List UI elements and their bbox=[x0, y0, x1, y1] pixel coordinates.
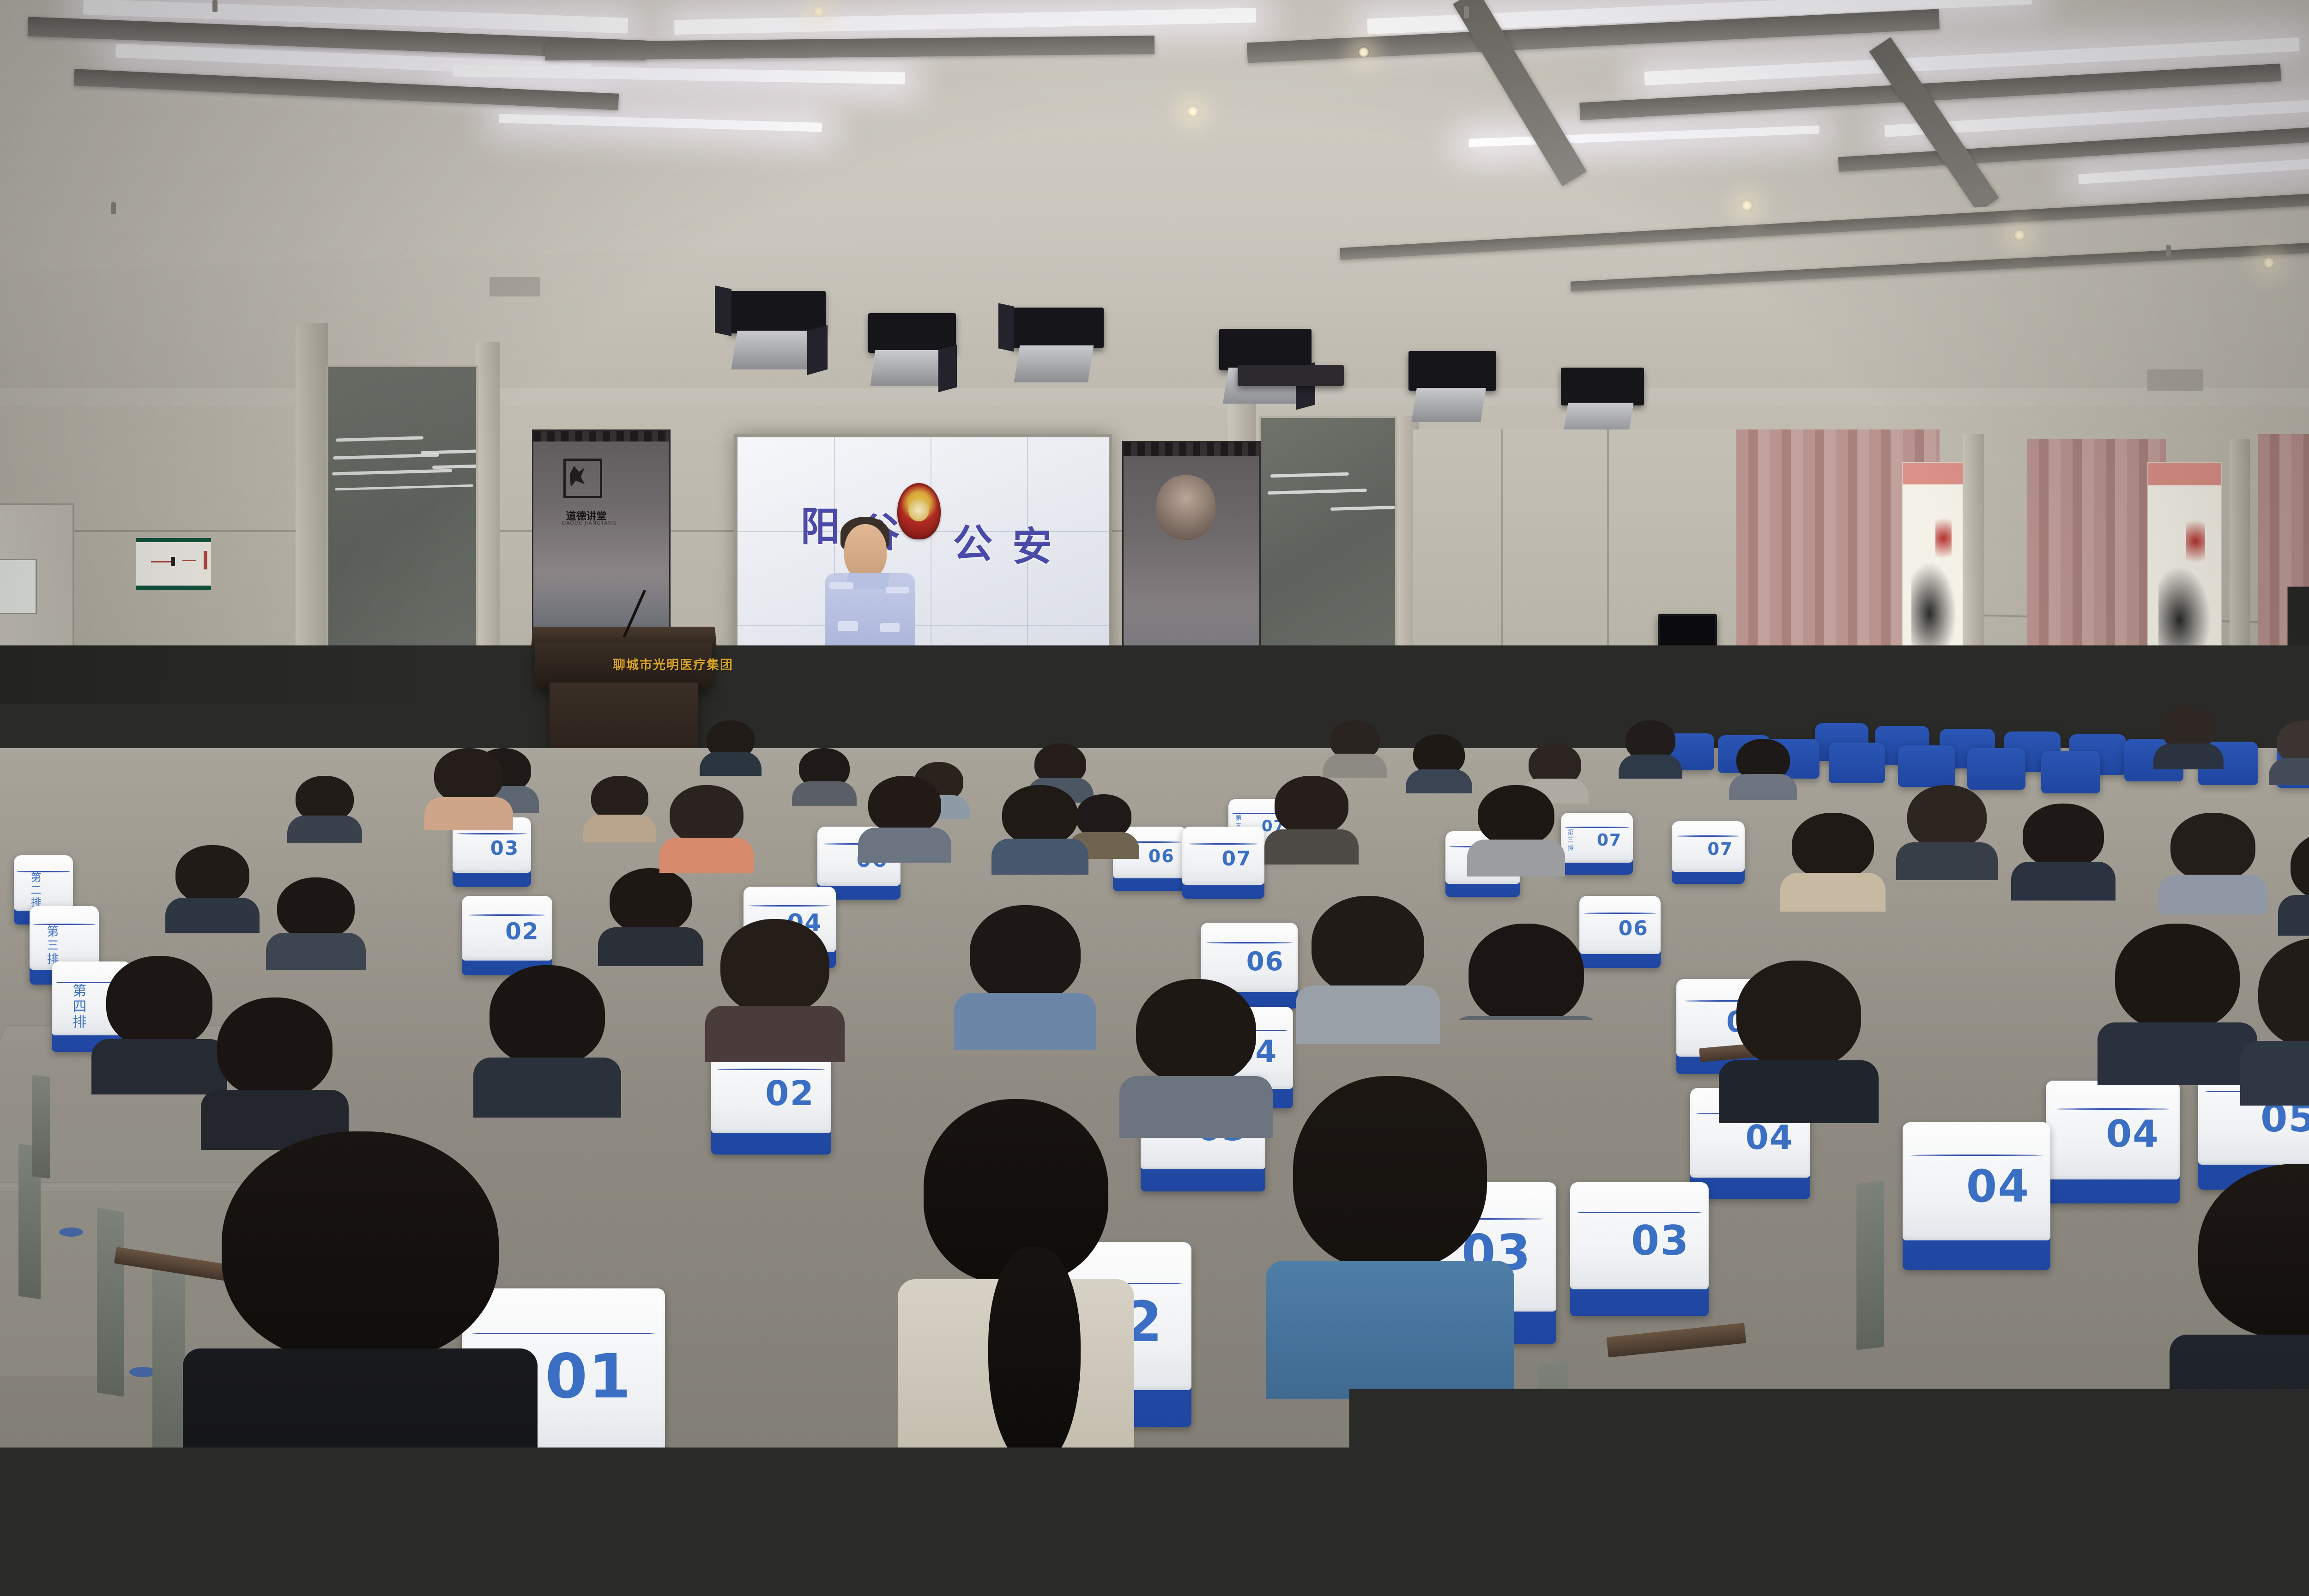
audience-member bbox=[1626, 720, 1675, 779]
seat-row-label: 第三排 bbox=[1565, 829, 1574, 852]
podium-sign-text: 聊城市光明医疗集团 bbox=[613, 655, 733, 673]
audience-member bbox=[610, 868, 692, 966]
seat-number: 06 bbox=[1246, 947, 1284, 977]
empty-seat[interactable] bbox=[1967, 748, 2025, 790]
audience-member bbox=[1136, 979, 1256, 1138]
seat-number: 07 bbox=[1707, 839, 1733, 859]
hvac-vent bbox=[2147, 369, 2203, 391]
stage-spotlight bbox=[1561, 368, 1644, 405]
empty-seat[interactable] bbox=[2041, 751, 2100, 793]
running-person-icon bbox=[187, 653, 194, 664]
seat-number: 06 bbox=[1618, 917, 1648, 940]
hvac-vent bbox=[490, 277, 540, 296]
seat-number: 01 bbox=[545, 1341, 632, 1412]
banner-daode-jiangtang: 道德讲堂 DAODE JIANGTANG bbox=[532, 429, 671, 647]
audience-member bbox=[707, 720, 755, 776]
audience-member bbox=[2258, 937, 2309, 1106]
wall-display-panel bbox=[0, 559, 37, 614]
seat-number: 07 bbox=[1221, 847, 1251, 871]
ceiling-spotlight bbox=[2263, 257, 2275, 269]
seat[interactable]: 06 bbox=[1579, 896, 1661, 968]
ceiling-spotlight bbox=[2013, 229, 2025, 241]
audience-member-foreground bbox=[1861, 1025, 2083, 1441]
seat-frame bbox=[32, 1075, 50, 1179]
seat-number: 03 bbox=[490, 837, 519, 859]
auditorium-photo: 阳 谷 公 安 尽可能的把他行踪确定清楚 道德讲堂 DAODE JIANGTAN… bbox=[0, 0, 2309, 1596]
stage-spotlight bbox=[1011, 308, 1104, 348]
audience-member bbox=[1002, 785, 1078, 875]
audience-member bbox=[277, 877, 355, 970]
stage-spotlight bbox=[1408, 351, 1496, 391]
portrait-figure bbox=[1156, 475, 1215, 540]
wall-pillar bbox=[476, 342, 500, 720]
empty-seat[interactable] bbox=[1898, 745, 1955, 787]
audience-member bbox=[970, 905, 1081, 1050]
stage-spotlight bbox=[1219, 329, 1312, 370]
audience-member bbox=[1478, 785, 1554, 877]
seat[interactable]: 02 bbox=[462, 896, 552, 975]
audience-member bbox=[2023, 804, 2104, 901]
screen-title-char-4: 安 bbox=[1012, 514, 1058, 572]
seal-logo-icon bbox=[563, 459, 602, 498]
seat[interactable]: 03 bbox=[1570, 1182, 1709, 1316]
wall-pillar bbox=[296, 323, 328, 720]
wall-scroll-painting bbox=[1902, 462, 1966, 679]
audience-member bbox=[2170, 813, 2255, 914]
audience-member bbox=[106, 956, 212, 1094]
podium: 聊城市光明医疗集团 bbox=[535, 642, 712, 688]
audience-member bbox=[296, 776, 354, 843]
banner-pinyin: DAODE JIANGTANG bbox=[562, 520, 617, 526]
glass-wall-panel bbox=[326, 365, 478, 720]
sprinkler-head bbox=[1464, 6, 1469, 18]
exit-arrow-icon bbox=[176, 654, 184, 663]
audience-member bbox=[2277, 720, 2309, 785]
ceiling-spotlight bbox=[1187, 105, 1199, 117]
audience-member bbox=[2161, 707, 2216, 769]
glass-wall-panel bbox=[1259, 416, 1397, 716]
hair-bun bbox=[1878, 827, 1912, 855]
seat[interactable]: 07 bbox=[1672, 821, 1745, 884]
projection-screen: 阳 谷 公 安 尽可能的把他行踪确定清楚 bbox=[734, 434, 1112, 725]
audience-member bbox=[1330, 720, 1380, 778]
floor-marker bbox=[59, 1227, 83, 1237]
audience-member bbox=[434, 748, 503, 830]
seat-number: 02 bbox=[505, 918, 539, 945]
seat-number: 02 bbox=[765, 1074, 815, 1113]
wall-mounted-tv bbox=[1658, 614, 1717, 696]
seat-number: 07 bbox=[1597, 831, 1622, 850]
emergency-exit-sign bbox=[154, 647, 216, 671]
video-subtitle: 尽可能的把他行踪确定清楚 bbox=[908, 664, 1058, 682]
audience-member bbox=[2115, 924, 2240, 1085]
sprinkler-head bbox=[212, 0, 218, 12]
seat[interactable]: 07 第三排 bbox=[1561, 813, 1633, 875]
ceiling-spotlight bbox=[1358, 46, 1370, 58]
screen-title-char-3: 公 bbox=[953, 511, 999, 569]
hair-ponytail bbox=[988, 1247, 1081, 1469]
sprinkler-head bbox=[111, 202, 116, 214]
banner-ink-painting bbox=[1122, 441, 1261, 718]
seat-number: 06 bbox=[1148, 846, 1175, 866]
audience-member bbox=[2291, 831, 2309, 936]
audience-member bbox=[799, 748, 850, 806]
audience-member bbox=[490, 965, 605, 1118]
audience-member bbox=[720, 919, 829, 1062]
audience-member bbox=[1469, 924, 1584, 1076]
audience-member bbox=[1312, 896, 1424, 1044]
audience-member bbox=[591, 776, 648, 842]
seat-frame bbox=[152, 1263, 185, 1471]
stage-spotlight bbox=[729, 291, 826, 333]
seat-number: 04 bbox=[2106, 1112, 2159, 1155]
sprinkler-head bbox=[2166, 245, 2171, 257]
stage-spotlight bbox=[868, 313, 956, 353]
empty-seat[interactable] bbox=[1829, 743, 1885, 783]
wall-scroll-painting bbox=[2147, 462, 2222, 688]
audience-member bbox=[1413, 734, 1465, 793]
audience-member bbox=[175, 845, 249, 933]
seat-number: 03 bbox=[1631, 1217, 1689, 1264]
audience-member-blue-shirt bbox=[1293, 1076, 1487, 1399]
ceiling-spotlight bbox=[1741, 199, 1753, 212]
audience-member bbox=[670, 785, 743, 873]
audience-member bbox=[1736, 961, 1861, 1123]
seat-frame bbox=[1538, 1361, 1568, 1558]
seat[interactable]: 07 bbox=[1182, 827, 1264, 899]
audience-member bbox=[1275, 776, 1348, 864]
audience-member bbox=[1736, 739, 1790, 800]
ceiling-spotlight bbox=[813, 6, 825, 18]
audience-member bbox=[217, 997, 332, 1150]
audience-member-foreground bbox=[222, 1131, 499, 1596]
side-door[interactable] bbox=[0, 503, 74, 762]
seat-row-label: 第三排 bbox=[43, 925, 60, 967]
audience-member bbox=[868, 776, 941, 863]
light-switch-panel[interactable] bbox=[156, 679, 215, 695]
audience-member-foreground bbox=[2198, 1164, 2309, 1596]
seat-row-label: 第四排 bbox=[67, 983, 88, 1030]
seat-frame bbox=[97, 1208, 124, 1396]
evacuation-map bbox=[136, 538, 211, 590]
audience-member bbox=[1838, 840, 1930, 956]
projector-mount bbox=[1238, 365, 1344, 386]
seat-number: 04 bbox=[1746, 1118, 1794, 1157]
seat-row-label: 第二排 bbox=[27, 872, 42, 909]
